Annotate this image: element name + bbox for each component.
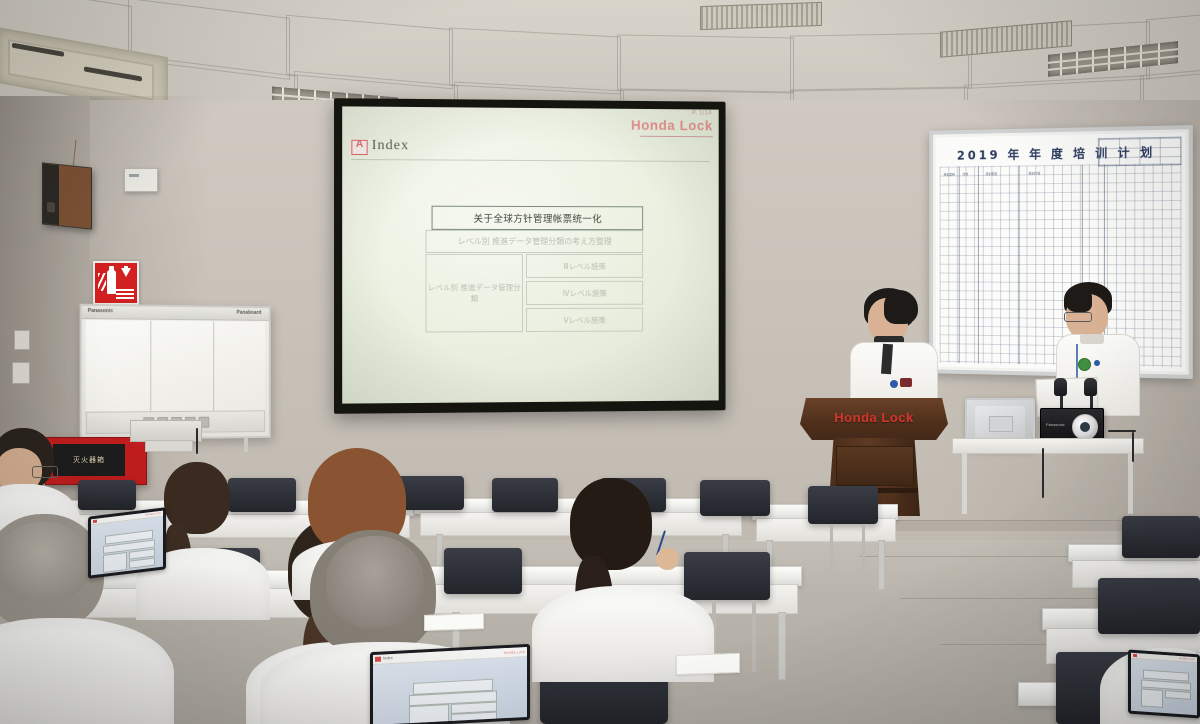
audience-3-head: [164, 462, 230, 534]
slide-subtitle-box: レベル別 推進データ管理分類の考え方整理: [425, 230, 643, 253]
audience-person-with-pen: [548, 478, 698, 678]
slide-brand-underline: [640, 136, 713, 138]
microphone-1[interactable]: [1054, 378, 1067, 396]
audience-2-shoulders: [0, 618, 174, 724]
laptop-left-brand-text: Honda Lock: [145, 511, 161, 517]
laptop-center-brand-text: Honda Lock: [504, 649, 525, 655]
equipment-cable-3: [1042, 448, 1044, 498]
slide-logo-icon: [351, 140, 367, 155]
wall-socket-upper[interactable]: [14, 330, 30, 350]
chair-back-7[interactable]: [808, 486, 878, 524]
slide-right-box-2: Ⅳレベル施策: [526, 281, 643, 305]
equipment-cable-2: [1132, 432, 1134, 462]
slide-brand-logo: Honda Lock: [631, 118, 713, 134]
training-room-photo: Panasonic Panaboard 灭火器箱 P. 1/14: [0, 0, 1200, 724]
ceiling-vent-center: [700, 2, 822, 30]
presenter-2-green-badge: [1078, 358, 1091, 371]
overhead-projector-unit: [130, 420, 202, 442]
slide-title-box: 关于全球方针管理帐票统一化: [432, 206, 644, 230]
chair-right-2[interactable]: [1098, 578, 1200, 634]
chair-back-6[interactable]: [700, 480, 770, 516]
overhead-projector-tray: [145, 440, 193, 452]
laptop-left[interactable]: Honda Lock: [88, 512, 166, 582]
chair-right-1[interactable]: [1122, 516, 1200, 558]
slide-right-box-1: Ⅲレベル施策: [526, 254, 643, 278]
slide-section-label: Index: [372, 138, 409, 154]
chair-back-1[interactable]: [78, 480, 136, 510]
presenter-2-lanyard: [1076, 344, 1078, 378]
slide-right-box-3: Ⅴレベル施策: [526, 308, 643, 332]
fire-extinguisher-sign-icon: [93, 261, 139, 305]
presenter-at-podium: [848, 288, 952, 412]
slide-left-box: レベル別 推進データ管理分類: [425, 254, 523, 332]
paper-on-desk-center: [424, 613, 484, 631]
training-plan-approval-header: [1098, 137, 1182, 167]
equipment-table: [952, 438, 1144, 454]
presenter-2-glasses: [1064, 312, 1092, 322]
panasonic-logo-text: Panasonic: [88, 308, 113, 314]
laptop-right[interactable]: Honda Lock: [1128, 652, 1200, 716]
amplifier-volume-knob[interactable]: [1072, 414, 1098, 440]
amplifier-label: Panasonic: [1046, 422, 1065, 427]
laptop-right-brand-text: Honda Lock: [1179, 656, 1195, 661]
whiteboard-brand-bar: Panasonic Panaboard: [82, 306, 269, 321]
wall-control-box[interactable]: [124, 168, 158, 192]
podium-logo-text: Honda Lock: [800, 410, 948, 425]
panaboard-logo-text: Panaboard: [237, 310, 262, 316]
projection-screen: P. 1/14 Honda Lock Index 关于全球方针管理帐票统一化 レ…: [334, 98, 726, 414]
microphone-2[interactable]: [1084, 378, 1097, 396]
presenter-1-badge: [890, 380, 898, 388]
paper-on-desk-right: [676, 653, 740, 675]
laptop-front-center[interactable]: Index Honda Lock: [370, 648, 530, 724]
hand-holding-pen: [656, 548, 678, 570]
wall-socket-lower[interactable]: [12, 362, 30, 384]
projected-slide: P. 1/14 Honda Lock Index 关于全球方针管理帐票统一化 レ…: [342, 106, 719, 403]
projector-cable: [196, 428, 198, 454]
wall-speaker: [42, 162, 92, 229]
audience-6-head: [570, 478, 652, 570]
audience-1-glasses: [32, 466, 58, 478]
laptop-center-index-text: Index: [383, 655, 393, 661]
slide-page-number: P. 1/14: [692, 110, 712, 116]
whiteboard-writing-surface[interactable]: [86, 320, 265, 412]
